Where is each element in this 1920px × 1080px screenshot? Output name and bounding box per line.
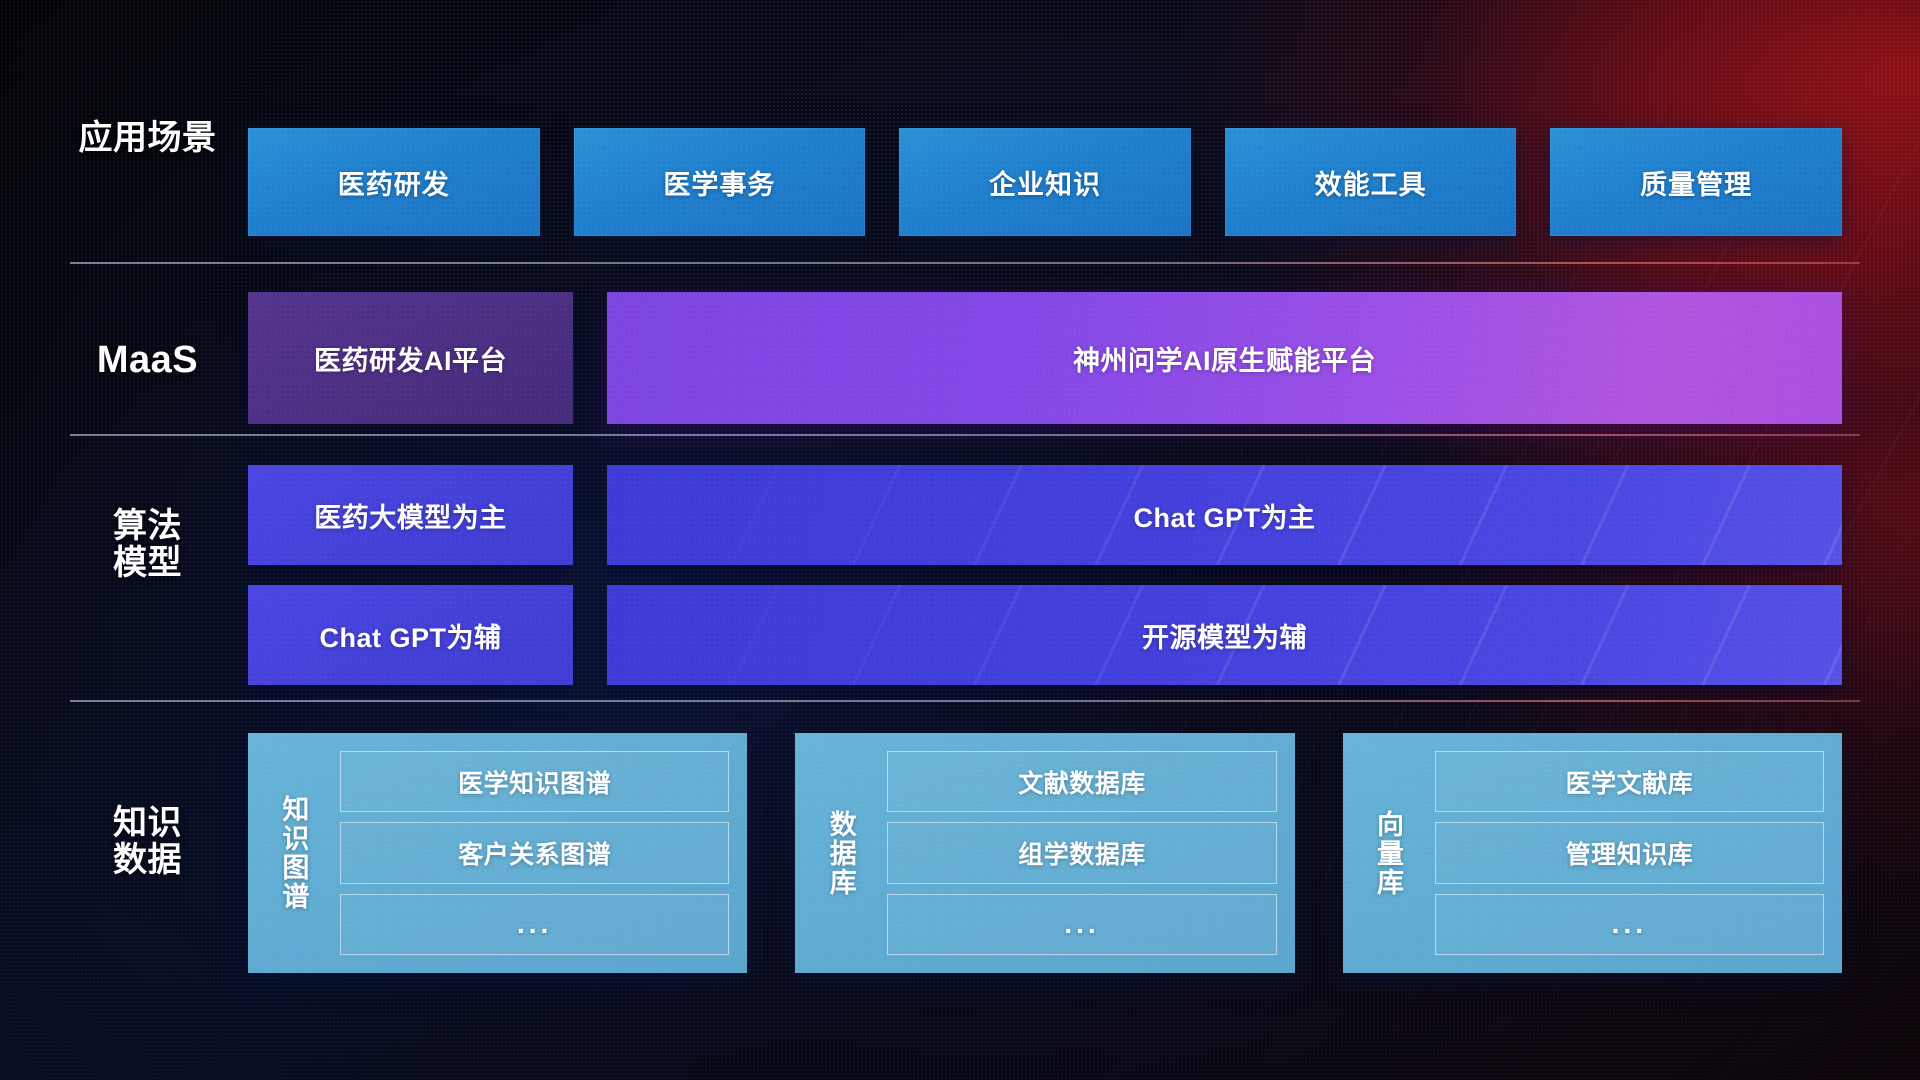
- knowledge-item-medical-literature-store[interactable]: 医学文献库: [1435, 751, 1824, 812]
- application-scenario-boxes: 医药研发 医学事务 企业知识 效能工具 质量管理: [248, 128, 1842, 236]
- knowledge-item-management-knowledge-store[interactable]: 管理知识库: [1435, 822, 1824, 883]
- maas-box-medicine-ai-platform[interactable]: 医药研发AI平台: [248, 292, 573, 424]
- knowledge-item-more[interactable]: ...: [1435, 894, 1824, 955]
- divider-2: [70, 434, 1860, 436]
- algo-box-label: 开源模型为辅: [1142, 616, 1307, 655]
- knowledge-item-more[interactable]: ...: [887, 894, 1276, 955]
- algo-box-chatgpt-primary[interactable]: Chat GPT为主: [607, 465, 1842, 565]
- algorithm-row-secondary: Chat GPT为辅 开源模型为辅: [248, 585, 1842, 685]
- scene-box-label: 医药研发: [338, 163, 450, 202]
- algo-box-label: Chat GPT为主: [1133, 496, 1315, 535]
- scene-box-quality-management[interactable]: 质量管理: [1550, 128, 1842, 236]
- knowledge-item-customer-relation-graph[interactable]: 客户关系图谱: [340, 822, 729, 883]
- scene-box-label: 企业知识: [989, 163, 1101, 202]
- scene-box-medical-affairs[interactable]: 医学事务: [574, 128, 866, 236]
- architecture-diagram: 应用场景 医药研发 医学事务 企业知识 效能工具 质量管理 MaaS 医药研发A…: [0, 0, 1920, 1080]
- scene-box-label: 质量管理: [1640, 163, 1752, 202]
- scene-box-enterprise-knowledge[interactable]: 企业知识: [899, 128, 1191, 236]
- knowledge-card-items: 医学文献库 管理知识库 ...: [1435, 751, 1824, 955]
- knowledge-card-vector-store[interactable]: 向量库 医学文献库 管理知识库 ...: [1343, 733, 1842, 973]
- algo-box-opensource-secondary[interactable]: 开源模型为辅: [607, 585, 1842, 685]
- knowledge-card-title: 数据库: [807, 751, 873, 955]
- knowledge-card-title: 知识图谱: [260, 751, 326, 955]
- row-label-knowledge-data: 知识 数据: [60, 805, 235, 878]
- maas-box-shenzhou-wenxue-platform[interactable]: 神州问学AI原生赋能平台: [607, 292, 1842, 424]
- maas-boxes: 医药研发AI平台 神州问学AI原生赋能平台: [248, 292, 1842, 424]
- knowledge-card-title: 向量库: [1355, 751, 1421, 955]
- row-label-maas: MaaS: [60, 340, 235, 381]
- algorithm-row-primary: 医药大模型为主 Chat GPT为主: [248, 465, 1842, 565]
- knowledge-card-items: 文献数据库 组学数据库 ...: [887, 751, 1276, 955]
- knowledge-item-omics-database[interactable]: 组学数据库: [887, 822, 1276, 883]
- divider-3: [70, 700, 1860, 702]
- scene-box-label: 医学事务: [663, 163, 775, 202]
- knowledge-card-knowledge-graph[interactable]: 知识图谱 医学知识图谱 客户关系图谱 ...: [248, 733, 747, 973]
- knowledge-data-cards: 知识图谱 医学知识图谱 客户关系图谱 ... 数据库 文献数据库 组学数据库 .…: [248, 733, 1842, 973]
- knowledge-item-medical-knowledge-graph[interactable]: 医学知识图谱: [340, 751, 729, 812]
- scene-box-efficiency-tools[interactable]: 效能工具: [1225, 128, 1517, 236]
- knowledge-item-literature-database[interactable]: 文献数据库: [887, 751, 1276, 812]
- knowledge-item-more[interactable]: ...: [340, 894, 729, 955]
- row-label-text: MaaS: [60, 340, 235, 381]
- scene-box-medicine-rd[interactable]: 医药研发: [248, 128, 540, 236]
- algo-box-medicine-large-model-primary[interactable]: 医药大模型为主: [248, 465, 573, 565]
- row-label-application-scenario: 应用场景: [60, 120, 235, 157]
- row-label-text-line1: 知识: [60, 805, 235, 842]
- maas-box-label: 神州问学AI原生赋能平台: [1073, 339, 1376, 378]
- algo-box-chatgpt-secondary[interactable]: Chat GPT为辅: [248, 585, 573, 685]
- algo-box-label: Chat GPT为辅: [319, 616, 501, 655]
- divider-1: [70, 262, 1860, 264]
- algorithm-model-boxes: 医药大模型为主 Chat GPT为主 Chat GPT为辅 开源模型为辅: [248, 465, 1842, 685]
- row-label-text-line1: 算法: [60, 508, 235, 545]
- row-label-text-line2: 模型: [60, 545, 235, 582]
- maas-box-label: 医药研发AI平台: [314, 339, 507, 378]
- knowledge-card-items: 医学知识图谱 客户关系图谱 ...: [340, 751, 729, 955]
- row-label-text: 应用场景: [60, 120, 235, 157]
- algo-box-label: 医药大模型为主: [314, 496, 507, 535]
- row-label-text-line2: 数据: [60, 842, 235, 879]
- scene-box-label: 效能工具: [1315, 163, 1427, 202]
- row-label-algorithm-model: 算法 模型: [60, 508, 235, 581]
- knowledge-card-database[interactable]: 数据库 文献数据库 组学数据库 ...: [795, 733, 1294, 973]
